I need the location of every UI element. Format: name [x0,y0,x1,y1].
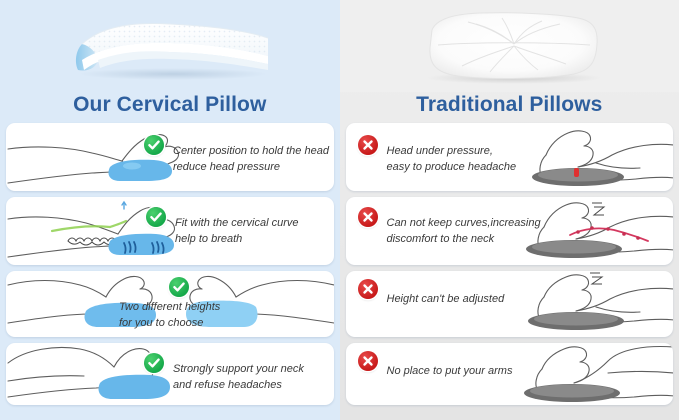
right-cue-3: Height can't be adjusted [358,279,505,307]
right-row-1: Head under pressure, easy to produce hea… [346,123,674,191]
contoured-pillow-photo [62,14,280,82]
x-circle-icon [358,207,378,227]
comparison-infographic: Our Cervical Pillow [0,0,679,420]
right-row-1-text: Head under pressure, easy to produce hea… [387,135,517,175]
left-row-4-text: Strongly support your neck and refuse he… [173,353,304,393]
right-hero-image [340,0,679,92]
left-benefit-list: Center position to hold the head reduce … [0,119,340,405]
right-cue-1: Head under pressure, easy to produce hea… [358,135,517,175]
right-row-2-text: Can not keep curves,increasing discomfor… [387,207,541,247]
right-row-4-text: No place to put your arms [387,351,513,379]
left-row-2: Fit with the cervical curve help to brea… [6,197,334,265]
left-row-3-text: Two different heights for you to choose [119,297,220,331]
snore-icon [590,273,602,284]
left-row-2-text: Fit with the cervical curve help to brea… [175,207,298,247]
right-row-2: Can not keep curves,increasing discomfor… [346,197,674,265]
right-row-3: Height can't be adjusted [346,271,674,337]
right-row-3-text: Height can't be adjusted [387,279,505,307]
right-row-4: No place to put your arms [346,343,674,405]
right-drawback-list: Head under pressure, easy to produce hea… [340,119,679,405]
right-heading: Traditional Pillows [340,92,679,119]
x-circle-icon [358,351,378,371]
left-row-3: Two different heights for you to choose [6,271,334,337]
check-circle-icon [169,277,189,297]
left-cue-1: Center position to hold the head reduce … [144,135,329,175]
check-circle-icon [146,207,166,227]
left-row-1: Center position to hold the head reduce … [6,123,334,191]
left-row-4: Strongly support your neck and refuse he… [6,343,334,405]
left-cue-2: Fit with the cervical curve help to brea… [146,207,298,247]
left-cue-3: Two different heights for you to choose [119,277,220,331]
snore-icon [592,203,604,215]
left-heading: Our Cervical Pillow [0,92,340,119]
traditional-pillow-photo [418,8,608,86]
check-circle-icon [144,135,164,155]
check-circle-icon [144,353,164,373]
left-hero-image [0,0,340,92]
left-column-our-pillow: Our Cervical Pillow [0,0,340,420]
left-cue-4: Strongly support your neck and refuse he… [144,353,304,393]
right-column-traditional-pillow: Traditional Pillows [340,0,679,420]
left-row-1-text: Center position to hold the head reduce … [173,135,329,175]
x-circle-icon [358,135,378,155]
right-cue-4: No place to put your arms [358,351,513,379]
right-cue-2: Can not keep curves,increasing discomfor… [358,207,541,247]
x-circle-icon [358,279,378,299]
